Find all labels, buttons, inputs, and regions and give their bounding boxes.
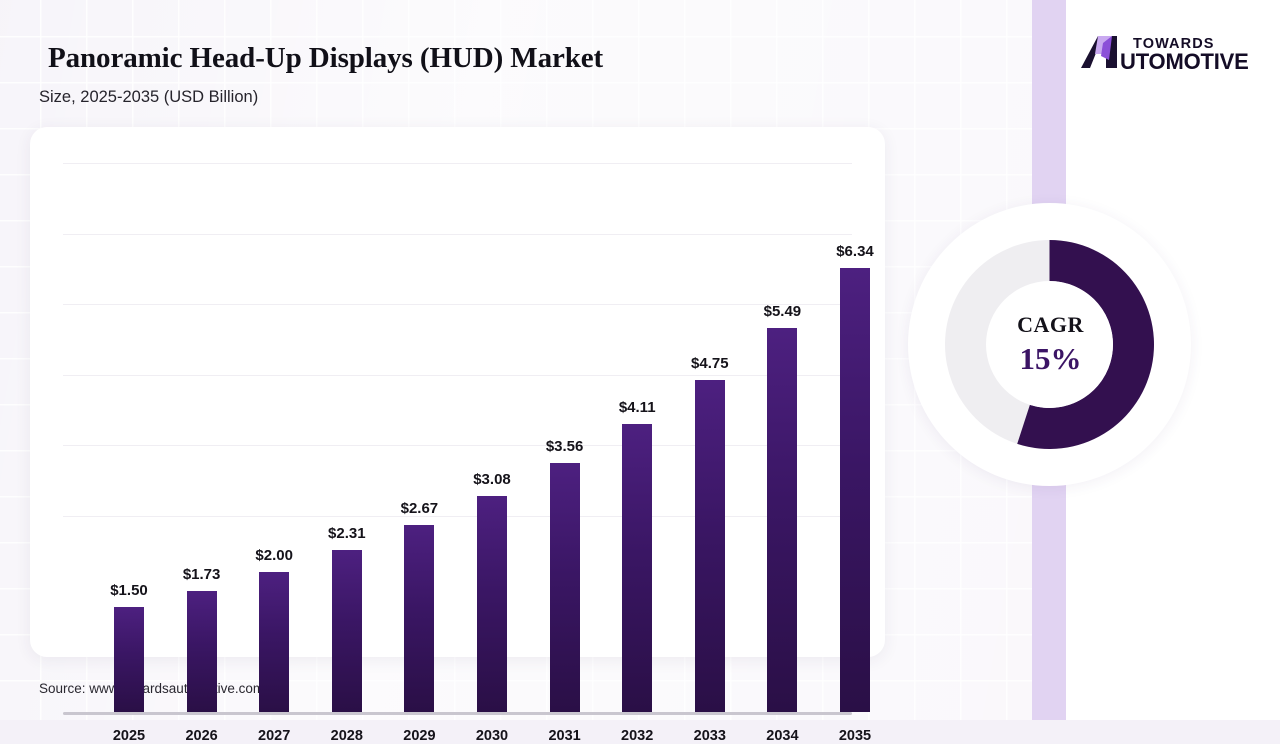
bar-value-label: $4.11 — [592, 399, 682, 416]
bar-value-label: $5.49 — [737, 303, 827, 320]
bar-2029[interactable] — [404, 525, 434, 712]
bar-2028[interactable] — [332, 550, 362, 712]
bar-2032[interactable] — [622, 424, 652, 712]
plot-area — [63, 163, 852, 588]
bar-value-label: $1.50 — [84, 582, 174, 599]
towards-automotive-logo: TOWARDS UTOMOTIVE — [1076, 30, 1252, 74]
bar-value-label: $4.75 — [665, 355, 755, 372]
cagr-value: 15% — [1020, 340, 1082, 377]
bar-value-label: $2.00 — [229, 547, 319, 564]
page-title: Panoramic Head-Up Displays (HUD) Market — [48, 42, 603, 75]
logo-icon: TOWARDS UTOMOTIVE — [1076, 30, 1252, 74]
x-axis-line — [63, 712, 852, 715]
bar-2034[interactable] — [767, 328, 797, 712]
bar-value-label: $3.56 — [520, 438, 610, 455]
bar-value-label: $2.31 — [302, 525, 392, 542]
bar-2030[interactable] — [477, 496, 507, 712]
bar-2027[interactable] — [259, 572, 289, 712]
page-subtitle: Size, 2025-2035 (USD Billion) — [39, 88, 258, 107]
cagr-label: CAGR — [1017, 312, 1084, 337]
source-caption: Source: www.towardsautomotive.com — [39, 681, 264, 696]
bar-value-label: $6.34 — [810, 243, 900, 260]
gridline — [63, 445, 852, 446]
bar-2026[interactable] — [187, 591, 217, 712]
bar-2025[interactable] — [114, 607, 144, 712]
x-axis-label: 2035 — [810, 728, 900, 744]
cagr-donut-chart: CAGR 15% — [908, 203, 1191, 486]
bar-value-label: $2.67 — [374, 500, 464, 517]
bar-2033[interactable] — [695, 380, 725, 713]
logo-line2: UTOMOTIVE — [1120, 49, 1249, 74]
bar-2035[interactable] — [840, 268, 870, 712]
bar-value-label: $1.73 — [157, 566, 247, 583]
gridline — [63, 304, 852, 305]
gridline — [63, 163, 852, 164]
donut-center-text: CAGR 15% — [908, 203, 1191, 486]
gridline — [63, 375, 852, 376]
gridline — [63, 234, 852, 235]
chart-card: $1.502025$1.732026$2.002027$2.312028$2.6… — [30, 127, 885, 657]
bar-value-label: $3.08 — [447, 471, 537, 488]
bar-2031[interactable] — [550, 463, 580, 712]
